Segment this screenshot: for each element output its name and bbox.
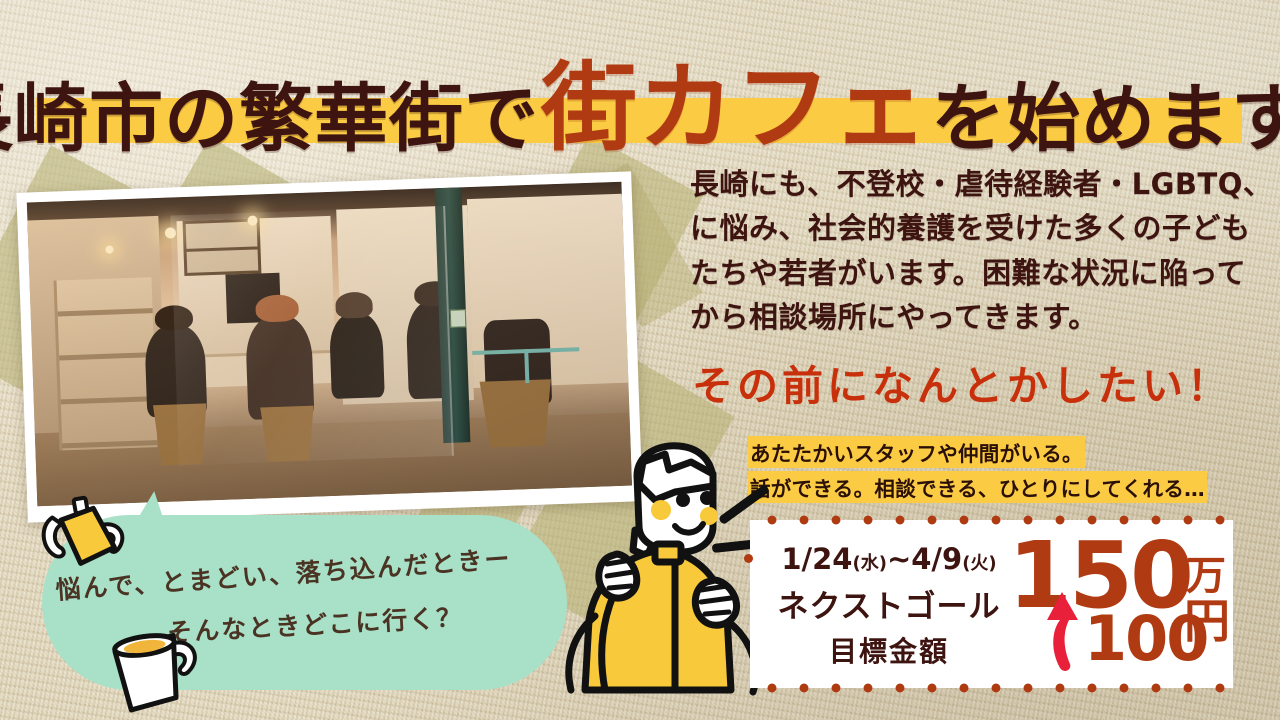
goal-unit-man: 万	[1186, 556, 1226, 596]
poster-root: 長崎市の繁華街で 街カフェ を始めます!	[0, 0, 1280, 720]
goal-box-left-column: 1/24(水)~4/9(火) ネクストゴール 目標金額	[764, 542, 1014, 670]
headline-block: 長崎市の繁華街で 街カフェ を始めます!	[0, 26, 1280, 156]
goal-date-range: 1/24(水)~4/9(火)	[764, 542, 1014, 576]
body-copy-line-4: から相談場所にやってきます。	[690, 295, 1250, 339]
goal-date-end: ~4/9	[887, 542, 962, 576]
highlighted-line-2: 話ができる。相談できる、ひとりにしてくれる…	[748, 471, 1207, 503]
teapot-icon	[36, 492, 136, 580]
headline-part-2-accent: 街カフェ	[541, 60, 929, 156]
highlighted-sub-copy: あたたかいスタッフや仲間がいる。 話ができる。相談できる、ひとりにしてくれる…	[748, 436, 1207, 506]
goal-date-start-day: (水)	[852, 553, 886, 574]
goal-box: 1/24(水)~4/9(火) ネクストゴール 目標金額 150 万 円 100	[750, 520, 1233, 688]
cafe-photo	[27, 182, 632, 507]
goal-box-dot-left	[744, 554, 753, 563]
goal-target-amount-label: 目標金額	[764, 630, 1014, 670]
headline-part-1: 長崎市の繁華街で	[0, 82, 539, 156]
headline-part-3: を始めます!	[931, 82, 1280, 156]
body-copy-line-2: に悩み、社会的養護を受けた多くの子ども	[690, 206, 1250, 250]
goal-date-start: 1/24	[781, 542, 852, 576]
red-emphasis-line: その前になんとかしたい！	[692, 352, 1232, 412]
goal-amount-old: 100	[1084, 608, 1207, 670]
goal-box-dotted-border-bottom	[750, 683, 1233, 693]
cafe-photo-frame	[16, 171, 642, 522]
body-copy-line-3: たちや若者がいます。困難な状況に陥って	[690, 251, 1250, 295]
mug-icon	[100, 620, 215, 720]
photo-warm-overlay	[27, 182, 632, 507]
up-arrow-icon	[1032, 588, 1096, 676]
body-copy: 長崎にも、不登校・虐待経験者・LGBTQ、 に悩み、社会的養護を受けた多くの子ど…	[690, 162, 1250, 339]
goal-box-right-column: 150 万 円 100	[1008, 526, 1233, 684]
body-copy-line-1: 長崎にも、不登校・虐待経験者・LGBTQ、	[690, 162, 1250, 206]
goal-date-end-day: (火)	[962, 553, 996, 574]
goal-next-goal-label: ネクストゴール	[764, 581, 1014, 626]
